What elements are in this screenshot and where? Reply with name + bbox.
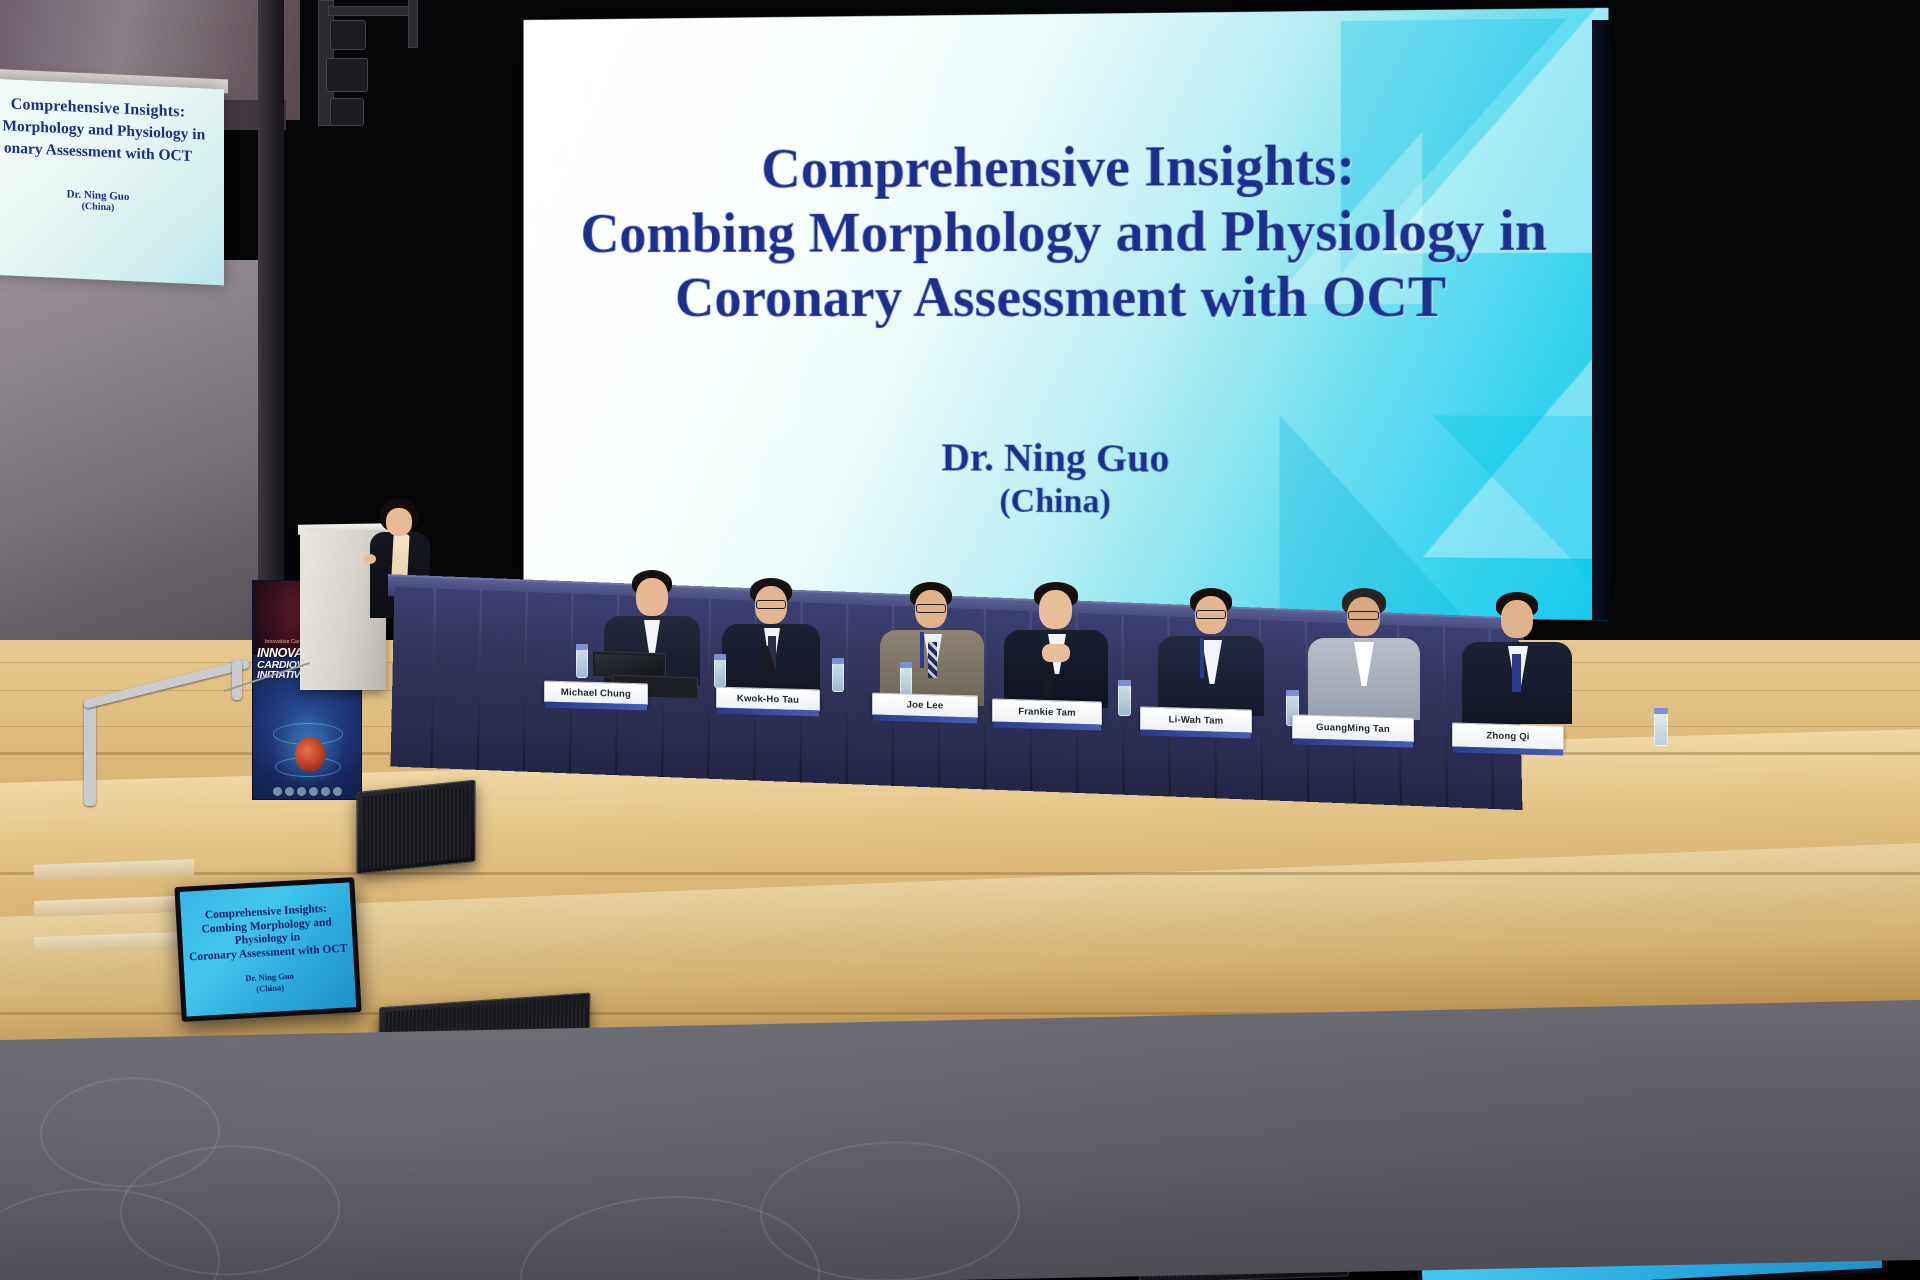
nameplate-text: Michael Chung [561, 687, 631, 700]
stage-edge [0, 872, 1920, 875]
main-projection-screen: Comprehensive Insights: Combing Morpholo… [524, 8, 1609, 620]
stage-light-icon [330, 20, 366, 50]
heart-graphic [271, 709, 345, 787]
panelist-tie [928, 642, 937, 678]
stage-wedge-speaker-1 [356, 780, 475, 875]
sponsor-icon [273, 787, 282, 796]
screen-right-edge [1592, 20, 1610, 620]
bottle-cap [900, 662, 912, 668]
water-bottle[interactable] [576, 648, 588, 678]
panelist-glasses [1196, 610, 1226, 619]
speaker-face [386, 508, 412, 536]
slide-title-line-2: Combing Morphology and Physiology in [524, 199, 1609, 267]
panelist-5 [1158, 588, 1264, 708]
slide-speaker-block: Dr. Ning Guo (China) [524, 432, 1609, 528]
water-bottle[interactable] [714, 658, 726, 688]
stage-light-icon [330, 98, 364, 126]
left-wall-projection: Comprehensive Insights: g Morphology and… [0, 79, 224, 286]
speaker-hand [364, 554, 376, 564]
water-bottle[interactable] [900, 666, 912, 696]
nameplate-text: Joe Lee [907, 699, 944, 711]
banner-sponsor-icons [259, 787, 355, 796]
panelist-head [1039, 590, 1072, 629]
bottle-cap [832, 658, 844, 664]
nameplate-6: GuangMing Tan [1292, 714, 1414, 742]
sponsor-icon [285, 787, 294, 796]
nameplate-text: Frankie Tam [1018, 706, 1075, 719]
bottle-cap [1286, 690, 1299, 696]
nameplate-1: Michael Chung [544, 681, 648, 706]
handrail-post [84, 700, 96, 806]
heart-core-icon [295, 737, 325, 771]
slide-title-line-1: Comprehensive Insights: [524, 132, 1609, 203]
stage-light-icon [326, 58, 368, 92]
panelist-lanyard [920, 632, 924, 668]
nameplate-2: Kwok-Ho Tau [716, 687, 820, 712]
bottle-cap [1118, 680, 1131, 686]
stage-confidence-monitor-left: Comprehensive Insights: Combing Morpholo… [174, 877, 361, 1022]
nameplate-3: Joe Lee [872, 693, 978, 719]
panelist-hands [1042, 644, 1070, 662]
panelist-lanyard [1200, 638, 1204, 678]
sponsor-icon [309, 787, 318, 796]
slide-title: Comprehensive Insights: Combing Morpholo… [524, 132, 1609, 331]
panelist-glasses [916, 604, 946, 613]
wall-panel-lower-left [0, 260, 272, 700]
panelist-head [1501, 600, 1533, 638]
slide-speaker-name: Dr. Ning Guo [524, 432, 1609, 486]
nameplate-text: Zhong Qi [1486, 730, 1529, 742]
panelist-6 [1308, 588, 1420, 712]
truss-bar-horizontal [328, 6, 414, 16]
panelist-2 [722, 578, 820, 690]
nameplate-text: GuangMing Tan [1316, 722, 1390, 735]
auditorium-carpet [0, 1000, 1920, 1280]
nameplate-4: Frankie Tam [992, 698, 1102, 725]
slide-speaker-country: (China) [524, 479, 1609, 527]
water-bottle[interactable] [832, 662, 844, 692]
slide-title-line-3: Coronary Assessment with OCT [524, 265, 1609, 331]
sponsor-icon [321, 787, 330, 796]
nameplate-text: Kwok-Ho Tau [737, 693, 799, 706]
lighting-truss [300, 0, 530, 150]
conference-stage-scene: Comprehensive Insights: g Morphology and… [0, 0, 1920, 1280]
sponsor-icon [333, 787, 342, 796]
panelist-glasses [1348, 611, 1379, 620]
bottle-cap [576, 644, 588, 650]
nameplate-text: Li-Wah Tam [1169, 714, 1224, 727]
panelist-head [636, 578, 668, 616]
bottle-cap [714, 654, 726, 660]
handrail-post [232, 660, 242, 700]
panelist-4 [1004, 582, 1108, 700]
panelist-glasses [756, 600, 786, 609]
panelist-tie [1512, 654, 1521, 692]
bottle-cap [1654, 708, 1668, 714]
water-bottle[interactable] [1654, 712, 1668, 746]
panelist-7 [1462, 592, 1572, 716]
nameplate-7: Zhong Qi [1452, 722, 1564, 750]
truss-drop-rod [408, 0, 418, 48]
water-bottle[interactable] [1118, 684, 1131, 716]
nameplate-5: Li-Wah Tam [1140, 706, 1252, 733]
confidence-monitor-left-screen: Comprehensive Insights: Combing Morpholo… [180, 882, 357, 1016]
panelist-3 [880, 582, 984, 698]
sponsor-icon [297, 787, 306, 796]
